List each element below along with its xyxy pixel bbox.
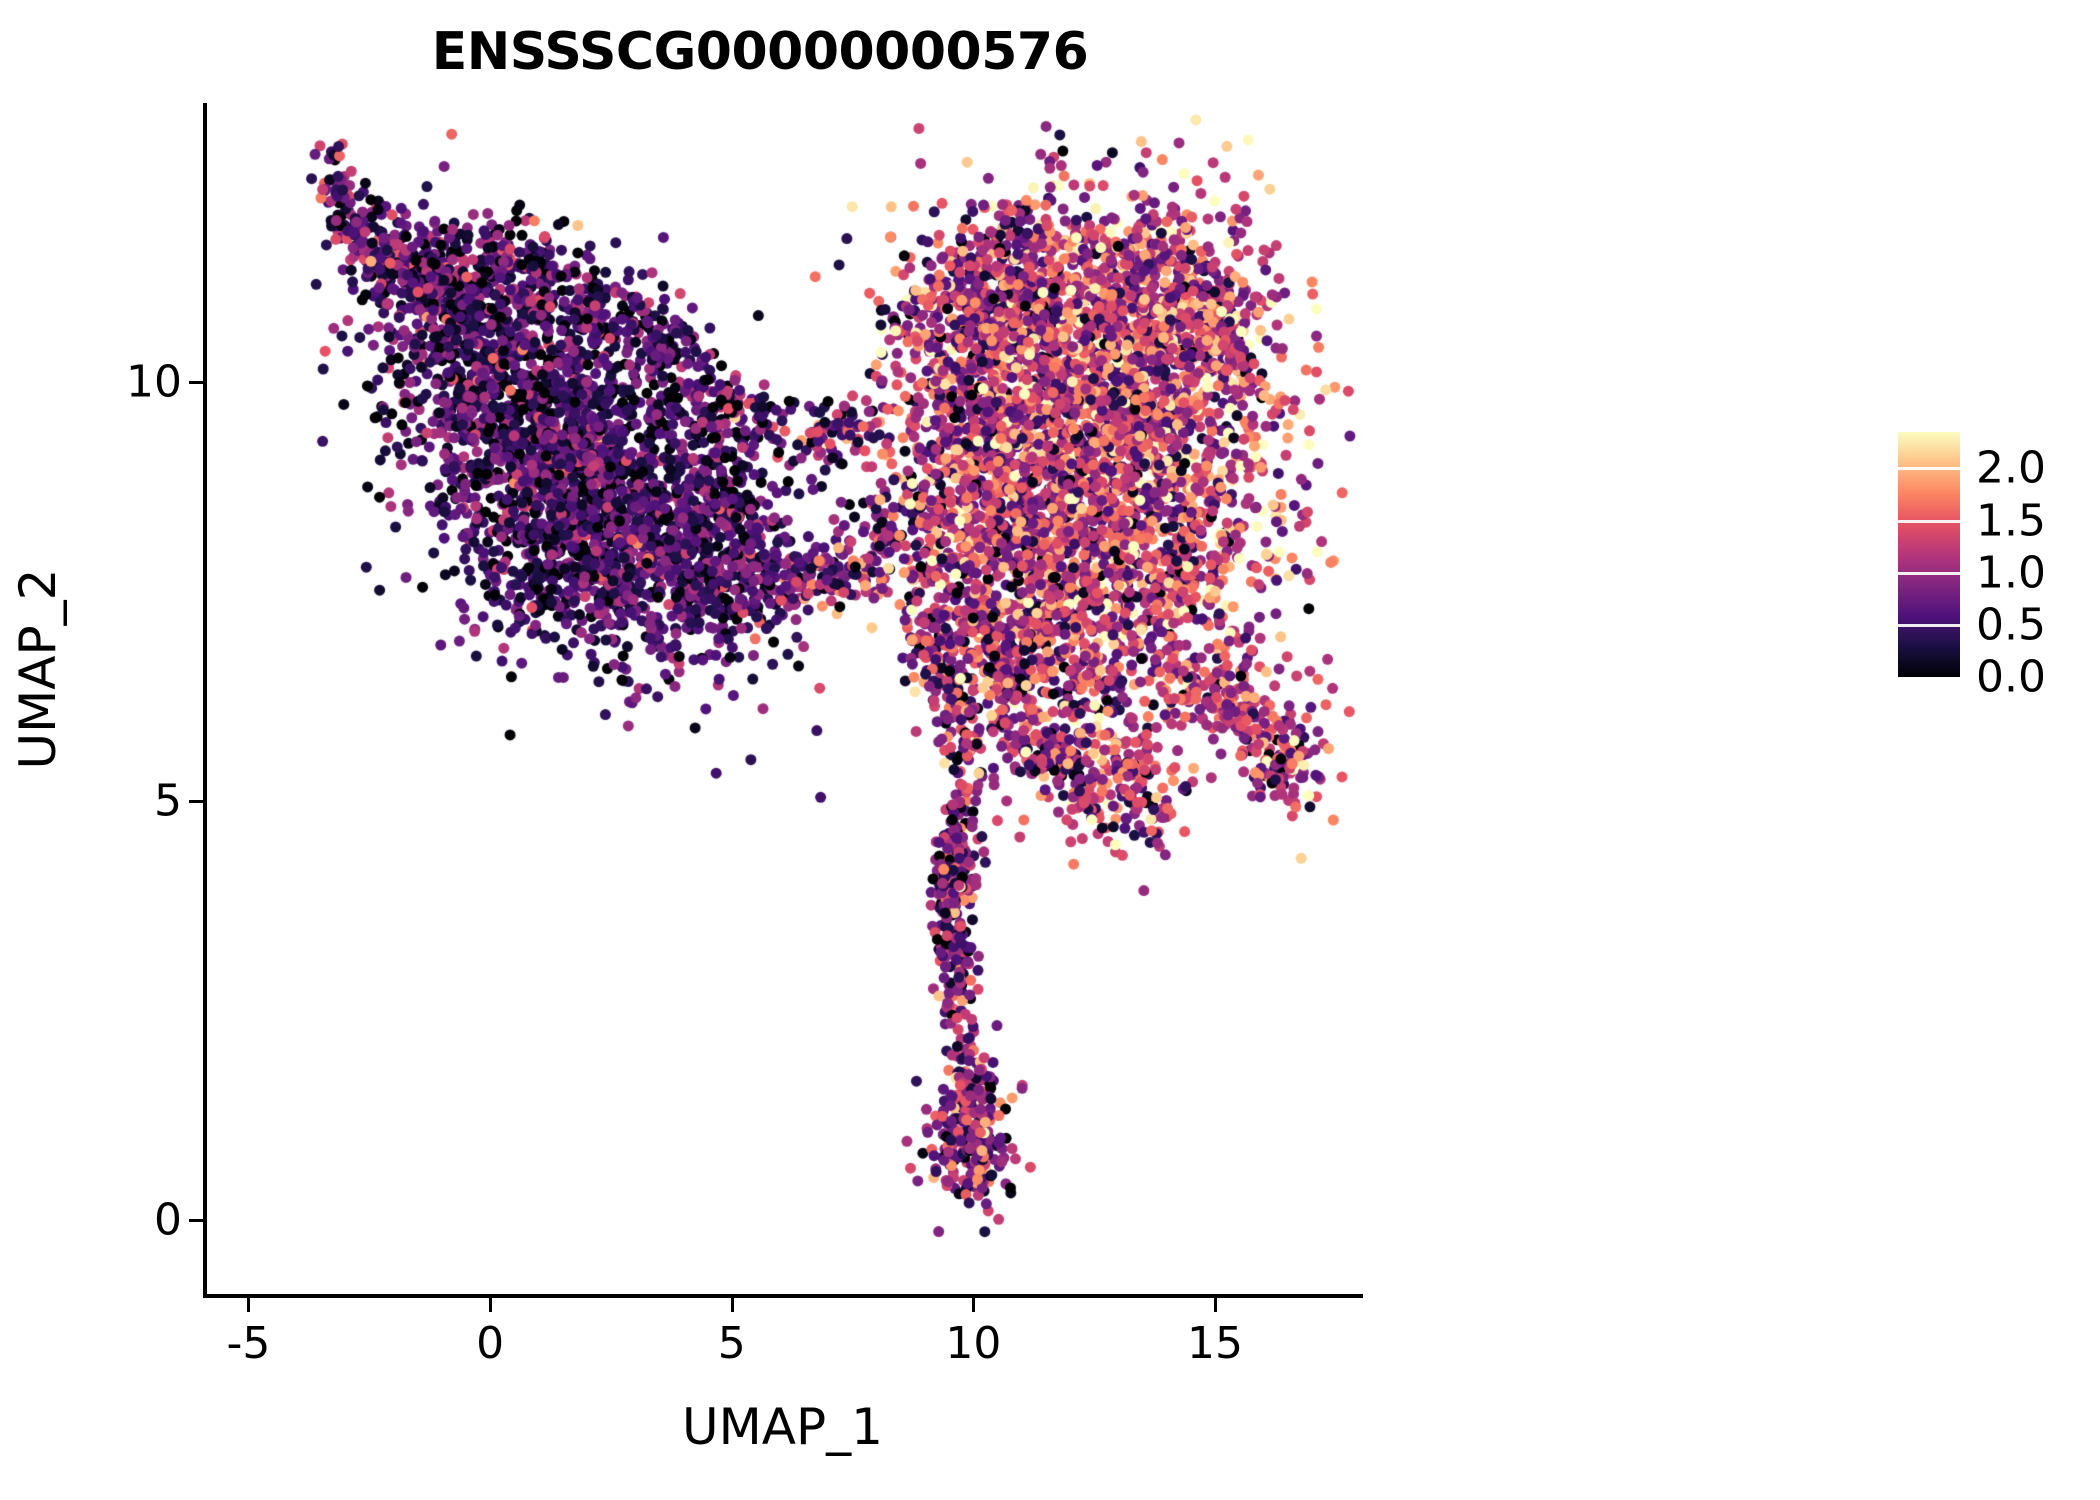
x-tick [972,1298,975,1312]
y-tick [189,381,203,384]
y-tick [189,800,203,803]
y-tick-label: 5 [154,775,182,826]
colorbar-tick-label: 0.5 [1976,599,2046,650]
x-tick-label: 10 [945,1318,1001,1369]
x-tick [489,1298,492,1312]
y-tick-label: 0 [154,1194,182,1245]
x-axis-label: UMAP_1 [0,1398,1565,1456]
page-title: ENSSSCG00000000576 [0,22,1520,82]
x-tick-label: -5 [227,1318,271,1369]
x-axis-spine [203,1294,1363,1298]
x-tick [1214,1298,1217,1312]
x-tick-label: 5 [718,1318,746,1369]
scatter-plot-area [205,105,1360,1295]
colorbar-tick [1898,520,1960,523]
x-tick-label: 15 [1187,1318,1243,1369]
x-tick-label: 0 [476,1318,504,1369]
y-axis-spine [203,103,207,1298]
y-axis-label: UMAP_2 [9,369,67,969]
x-tick [731,1298,734,1312]
y-tick-label: 10 [126,356,182,407]
colorbar-tick-label: 0.0 [1976,652,2046,703]
colorbar-tick [1898,572,1960,575]
colorbar-tick [1898,624,1960,627]
colorbar-tick [1898,467,1960,470]
scatter-points-canvas [205,105,1360,1295]
figure-root: ENSSSCG00000000576 -5051015 0510 UMAP_1 … [0,0,2100,1500]
colorbar: 2.01.51.00.50.0 [1898,432,2098,682]
x-tick [247,1298,250,1312]
y-tick [189,1219,203,1222]
colorbar-tick-label: 2.0 [1976,443,2046,494]
colorbar-tick-label: 1.0 [1976,547,2046,598]
colorbar-tick-label: 1.5 [1976,495,2046,546]
